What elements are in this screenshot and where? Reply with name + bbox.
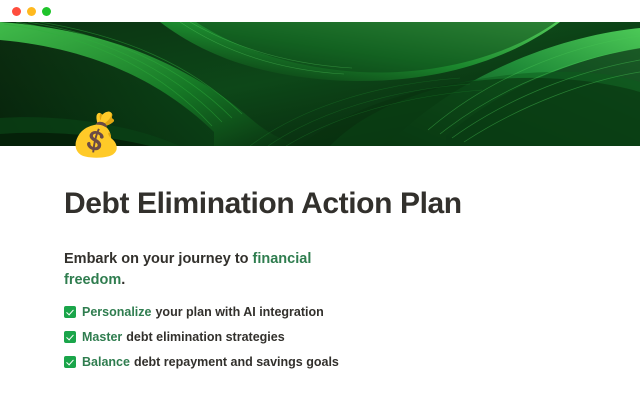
list-item[interactable]: Personalize your plan with AI integratio… <box>64 300 584 325</box>
lede-suffix: . <box>121 272 125 288</box>
close-button-icon[interactable] <box>12 7 21 16</box>
document-content: Debt Elimination Action Plan Embark on y… <box>64 146 584 375</box>
check-mark-icon <box>64 331 76 343</box>
list-item-keyword: Master <box>82 330 122 345</box>
list-item-text: your plan with AI integration <box>155 305 323 320</box>
checklist: Personalize your plan with AI integratio… <box>64 291 584 375</box>
document-page: 💰 Debt Elimination Action Plan Embark on… <box>0 146 640 400</box>
check-mark-icon <box>64 356 76 368</box>
list-item[interactable]: Master debt elimination strategies <box>64 325 584 350</box>
money-bag-emoji-icon[interactable]: 💰 <box>70 114 122 156</box>
app-window: 💰 Debt Elimination Action Plan Embark on… <box>0 0 640 400</box>
minimize-button-icon[interactable] <box>27 7 36 16</box>
list-item-keyword: Balance <box>82 355 130 370</box>
check-mark-icon <box>64 306 76 318</box>
list-item-keyword: Personalize <box>82 305 151 320</box>
lede-prefix: Embark on your journey to <box>64 251 253 267</box>
list-item-text: debt repayment and savings goals <box>134 355 339 370</box>
traffic-lights <box>12 7 51 16</box>
list-item-text: debt elimination strategies <box>126 330 284 345</box>
list-item[interactable]: Balance debt repayment and savings goals <box>64 350 584 375</box>
page-title: Debt Elimination Action Plan <box>64 146 584 221</box>
maximize-button-icon[interactable] <box>42 7 51 16</box>
window-titlebar <box>0 0 640 22</box>
lede-paragraph: Embark on your journey to financial free… <box>64 221 322 291</box>
